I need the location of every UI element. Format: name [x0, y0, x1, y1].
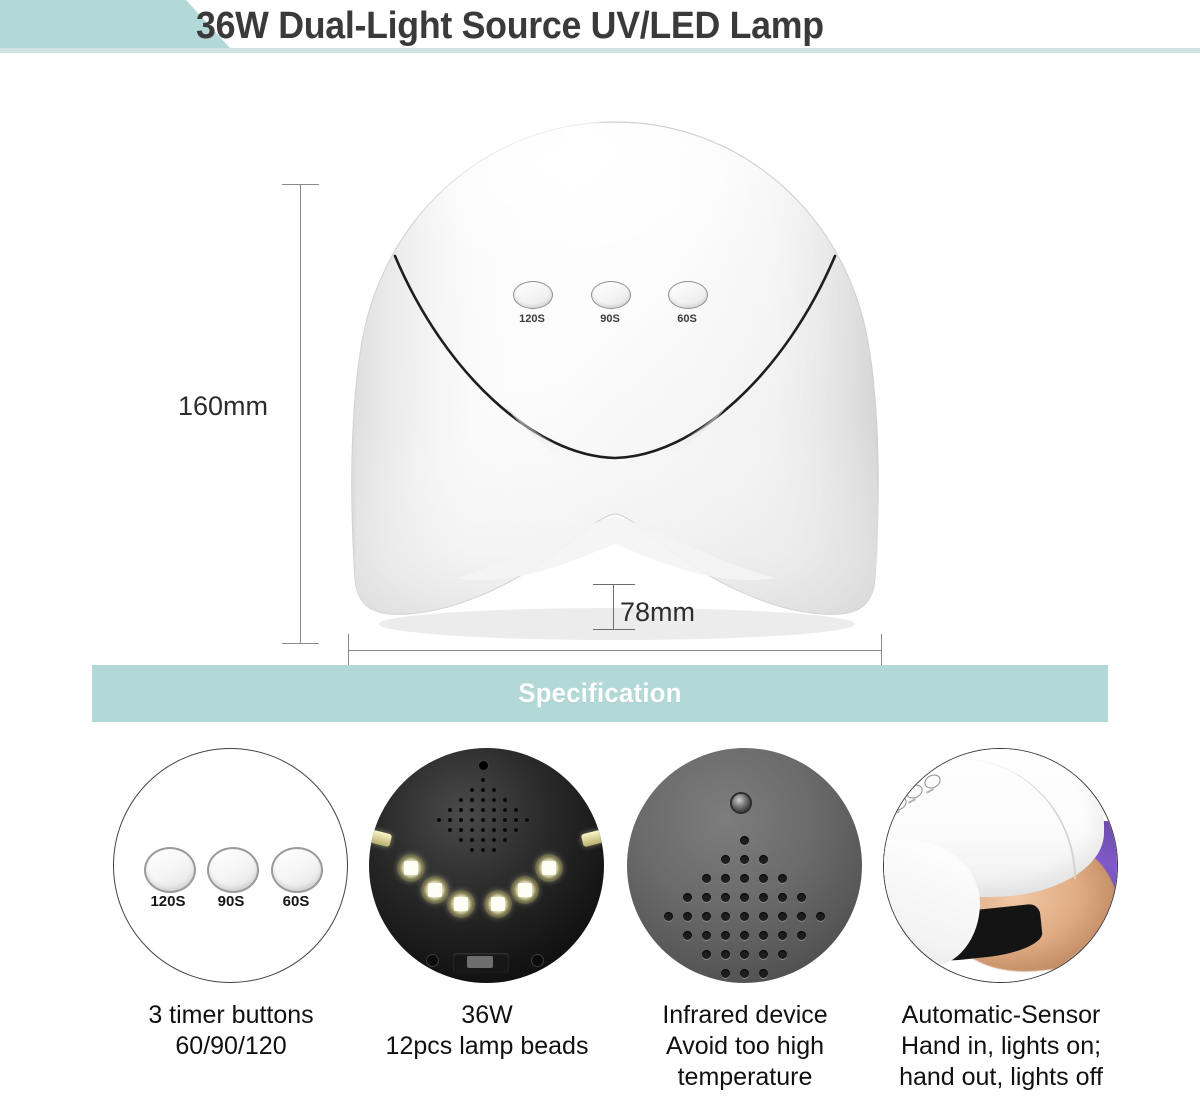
led-vent-hole — [459, 798, 463, 802]
infrared-device-photo — [627, 748, 862, 983]
specification-banner: Specification — [92, 665, 1108, 722]
width-dimension-line — [348, 650, 882, 651]
infrared-vent-hole — [759, 855, 768, 864]
led-vent-hole — [481, 778, 485, 782]
feature-item-infrared-device: Infrared device Avoid too high temperatu… — [610, 748, 880, 1106]
infrared-vent-hole — [721, 912, 730, 921]
infrared-vent-hole — [778, 874, 787, 883]
infrared-vent-hole — [740, 969, 749, 978]
led-bead — [535, 854, 563, 882]
feature-button-120s[interactable] — [144, 847, 196, 893]
lamp-button-label-90s: 90S — [582, 313, 638, 325]
infrared-vent-hole — [702, 931, 711, 940]
led-vent-hole — [492, 798, 496, 802]
led-vent-hole — [481, 838, 485, 842]
lamp-button-90s[interactable] — [591, 281, 631, 309]
led-vent-hole — [503, 818, 507, 822]
led-top-hole — [479, 761, 488, 770]
led-vent-hole — [470, 798, 474, 802]
infrared-vent-hole — [721, 874, 730, 883]
lamp-button-120s[interactable] — [513, 281, 553, 309]
led-vent-hole — [503, 828, 507, 832]
led-vent-hole — [470, 838, 474, 842]
led-screw-left — [427, 955, 438, 966]
infrared-vent-hole — [740, 912, 749, 921]
led-vent-hole — [459, 838, 463, 842]
infrared-vent-hole — [759, 912, 768, 921]
infrared-vent-hole — [759, 874, 768, 883]
opening-dimension-cap-top — [593, 584, 635, 585]
led-vent-hole — [492, 788, 496, 792]
infrared-vent-hole — [683, 893, 692, 902]
infrared-vent-hole — [721, 969, 730, 978]
led-power-port — [467, 956, 493, 968]
led-vent-hole — [492, 838, 496, 842]
infrared-vent-hole — [721, 931, 730, 940]
led-vent-hole — [459, 808, 463, 812]
infrared-vent-hole — [759, 893, 768, 902]
feature-caption: 3 timer buttons 60/90/120 — [90, 1000, 372, 1062]
led-vent-hole — [459, 818, 463, 822]
infrared-vent-hole — [721, 950, 730, 959]
feature-button-label-90s: 90S — [196, 893, 266, 910]
height-dimension-cap-top — [282, 184, 319, 185]
feature-button-90s[interactable] — [207, 847, 259, 893]
header: 36W Dual-Light Source UV/LED Lamp — [0, 0, 1200, 56]
infrared-vent-hole — [740, 874, 749, 883]
infrared-vent-hole — [702, 950, 711, 959]
feature-caption: Automatic-Sensor Hand in, lights on; han… — [860, 1000, 1142, 1093]
lamp-timer-button-row: 120S 90S 60S — [513, 281, 713, 307]
infrared-vent-hole — [702, 912, 711, 921]
infrared-sensor-icon — [732, 794, 750, 812]
led-vent-hole — [481, 828, 485, 832]
led-vent-hole — [470, 808, 474, 812]
opening-dimension-cap-bottom — [593, 629, 635, 630]
led-vent-hole — [492, 818, 496, 822]
led-vent-hole — [492, 848, 496, 852]
feature-button-label-60s: 60S — [261, 893, 331, 910]
led-side-left — [370, 830, 393, 847]
led-vent-hole — [459, 828, 463, 832]
infrared-vent-hole — [778, 893, 787, 902]
infrared-vent-hole — [740, 950, 749, 959]
infrared-vent-hole — [740, 931, 749, 940]
led-bead — [421, 876, 449, 904]
led-vent-hole — [481, 818, 485, 822]
infrared-vent-hole — [759, 931, 768, 940]
infrared-vent-hole — [721, 893, 730, 902]
lamp-body-svg — [335, 116, 895, 641]
led-bead — [447, 890, 475, 918]
infrared-vent-hole — [759, 950, 768, 959]
led-vent-hole — [503, 808, 507, 812]
lamp-beads-photo — [369, 748, 604, 983]
led-bead — [511, 876, 539, 904]
infrared-vent-hole — [778, 950, 787, 959]
infrared-vent-hole — [683, 912, 692, 921]
uv-lamp-illustration: 120S 90S 60S — [335, 116, 895, 641]
feature-item-lamp-beads: 36W 12pcs lamp beads — [352, 748, 622, 1106]
infrared-vent-hole — [721, 855, 730, 864]
product-infographic: 36W Dual-Light Source UV/LED Lamp — [0, 0, 1200, 1106]
led-vent-hole — [448, 818, 452, 822]
infrared-vent-hole — [816, 912, 825, 921]
led-vent-hole — [437, 818, 441, 822]
led-vent-hole — [470, 818, 474, 822]
feature-caption: Infrared device Avoid too high temperatu… — [604, 1000, 886, 1093]
led-side-right — [581, 830, 604, 847]
led-vent-hole — [514, 808, 518, 812]
infrared-vent-hole — [759, 969, 768, 978]
specification-banner-title: Specification — [117, 665, 1082, 722]
led-vent-hole — [492, 808, 496, 812]
feature-button-60s[interactable] — [271, 847, 323, 893]
infrared-vent-hole — [778, 931, 787, 940]
height-dimension-line — [300, 184, 301, 644]
timer-buttons-photo: 120S 90S 60S — [113, 748, 348, 983]
led-bead — [484, 890, 512, 918]
led-vent-hole — [503, 798, 507, 802]
lamp-shell-backdrop — [883, 748, 1118, 983]
led-vent-hole — [481, 798, 485, 802]
led-bead — [397, 854, 425, 882]
led-vent-hole — [481, 808, 485, 812]
infrared-vent-hole — [702, 893, 711, 902]
infrared-vent-hole — [797, 912, 806, 921]
led-vent-hole — [470, 788, 474, 792]
infrared-vent-hole — [740, 855, 749, 864]
infrared-vent-hole — [664, 912, 673, 921]
lamp-button-label-60s: 60S — [659, 313, 715, 325]
led-screw-right — [532, 955, 543, 966]
infrared-vent-hole — [740, 893, 749, 902]
feature-item-automatic-sensor: Automatic-Sensor Hand in, lights on; han… — [866, 748, 1136, 1106]
led-vent-hole — [448, 828, 452, 832]
infrared-vent-hole — [740, 836, 749, 845]
opening-dimension-line — [613, 584, 614, 630]
opening-dimension-label: 78mm — [620, 597, 695, 628]
led-vent-hole — [470, 828, 474, 832]
led-vent-hole — [503, 838, 507, 842]
led-vent-hole — [514, 828, 518, 832]
led-vent-hole — [525, 818, 529, 822]
page-title: 36W Dual-Light Source UV/LED Lamp — [196, 4, 824, 48]
feature-button-label-120s: 120S — [133, 893, 203, 910]
led-vent-hole — [514, 818, 518, 822]
led-vent-hole — [481, 788, 485, 792]
height-dimension-cap-bottom — [282, 643, 319, 644]
hand-in-lamp-photo — [883, 748, 1118, 983]
feature-list: 120S 90S 60S 3 timer buttons 60/90/120 — [0, 748, 1200, 1106]
feature-caption: 36W 12pcs lamp beads — [346, 1000, 628, 1062]
infrared-vent-hole — [778, 912, 787, 921]
led-vent-hole — [448, 808, 452, 812]
infrared-vent-hole — [702, 874, 711, 883]
infrared-vent-hole — [797, 931, 806, 940]
height-dimension-label: 160mm — [178, 391, 268, 422]
led-vent-hole — [481, 848, 485, 852]
feature-item-timer-buttons: 120S 90S 60S 3 timer buttons 60/90/120 — [96, 748, 366, 1106]
lamp-button-label-120s: 120S — [504, 313, 560, 325]
infrared-vent-hole — [683, 931, 692, 940]
header-divider-rule — [0, 48, 1200, 53]
lamp-button-60s[interactable] — [668, 281, 708, 309]
led-vent-hole — [492, 828, 496, 832]
led-vent-hole — [470, 848, 474, 852]
infrared-vent-hole — [797, 893, 806, 902]
product-dimension-diagram: 120S 90S 60S 160mm 78mm 180mm — [0, 56, 1200, 656]
